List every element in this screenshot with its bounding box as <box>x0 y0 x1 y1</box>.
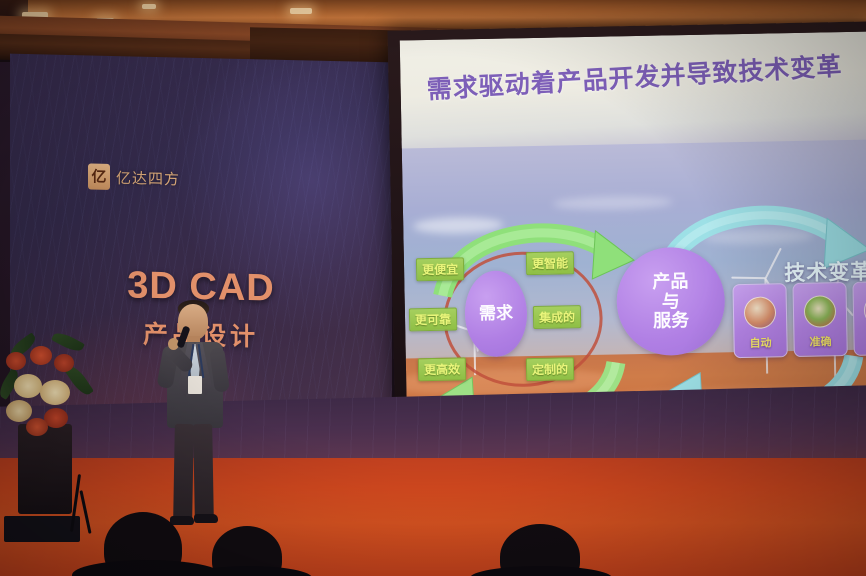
speaker-shoe-left <box>170 516 194 525</box>
flower-lily-1 <box>14 374 42 398</box>
hub-line-3: 服务 <box>653 311 689 331</box>
tag-efficient: 更高效 <box>418 357 466 381</box>
tag-reliable: 更可靠 <box>409 308 457 332</box>
flower-pedestal <box>18 424 72 514</box>
speaker-leg-left <box>173 424 194 520</box>
ceiling-light-4 <box>290 8 312 14</box>
backdrop-logo: 亿 亿达四方 <box>88 163 180 191</box>
brand-mark-icon: 亿 <box>88 163 110 189</box>
tag-cheaper: 更便宜 <box>416 257 464 281</box>
flower-arrangement <box>0 330 110 515</box>
speaker-badge <box>188 376 202 394</box>
tech-card-parallel: 并行 <box>852 281 866 356</box>
flower-red-5 <box>26 418 48 436</box>
brand-name: 亿达四方 <box>116 167 180 189</box>
conference-photo: 亿 亿达四方 3D CAD 产品设计 【合作伙伴】 ng DSSOLIDWORK… <box>0 0 866 576</box>
hub-line-2: 与 <box>662 292 680 311</box>
stage-monitor <box>4 516 80 542</box>
leaf-2 <box>51 329 85 355</box>
speaker-shoe-right <box>194 514 218 523</box>
tag-customized: 定制的 <box>526 357 574 381</box>
hub-line-1: 产品 <box>652 272 688 292</box>
flower-red-1 <box>6 352 26 370</box>
flower-lily-3 <box>6 400 32 422</box>
tag-smarter: 更智能 <box>526 251 574 275</box>
tech-card-label: 自动 <box>749 334 771 350</box>
demand-label: 需求 <box>479 305 513 323</box>
tech-card-auto: 自动 <box>732 283 787 358</box>
flower-red-2 <box>30 346 52 365</box>
speaker-leg-right <box>193 424 214 520</box>
flower-red-3 <box>54 354 74 372</box>
accurate-photo-icon <box>804 295 837 328</box>
flower-lily-2 <box>40 380 70 405</box>
tech-card-label: 准确 <box>809 333 831 349</box>
ceiling-light-3 <box>142 4 156 9</box>
speaker <box>150 300 240 540</box>
auto-photo-icon <box>744 296 777 329</box>
tag-integrated: 集成的 <box>533 305 581 329</box>
tech-card-accurate: 准确 <box>792 282 847 357</box>
